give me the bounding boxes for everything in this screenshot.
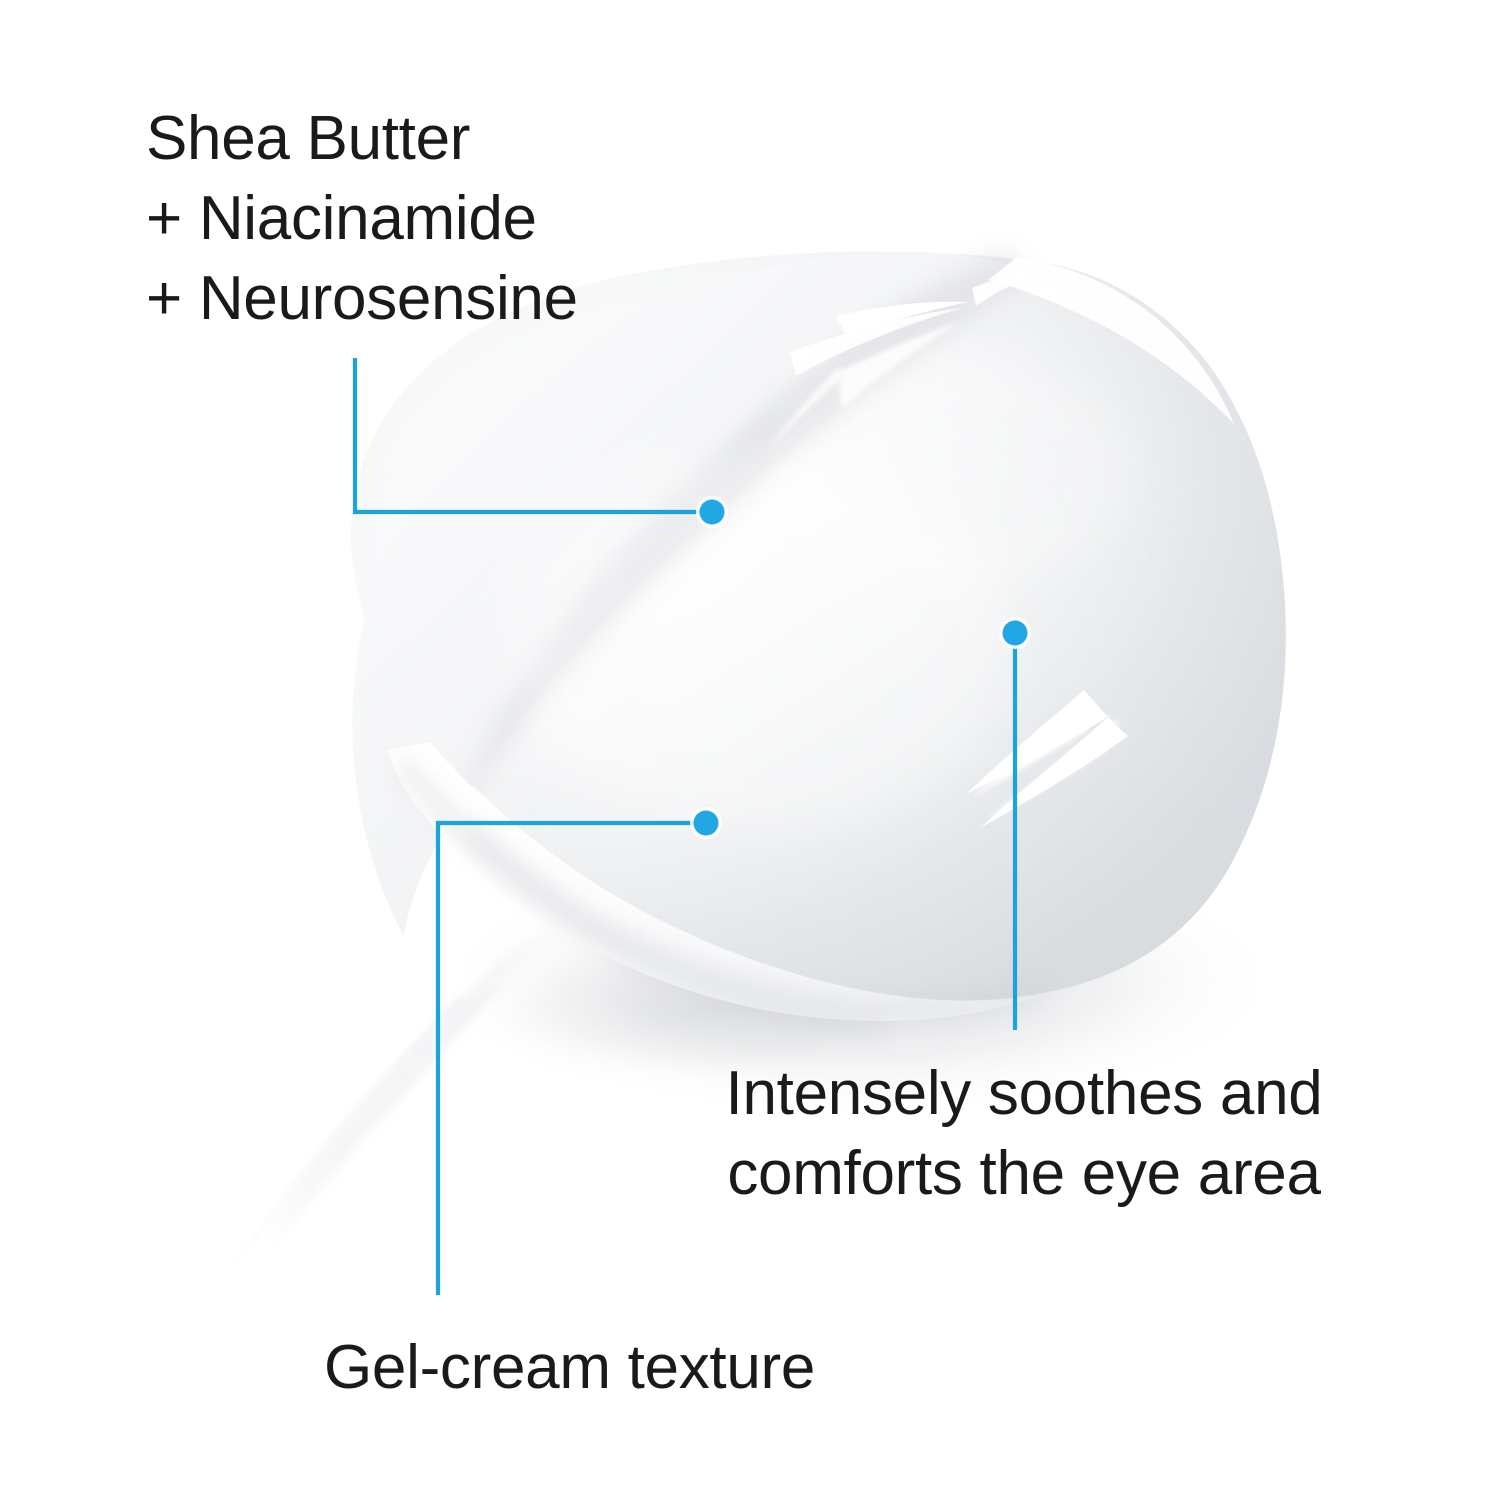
callout-label-texture: Gel-cream texture <box>324 1328 815 1408</box>
leader-texture <box>438 807 722 1295</box>
callout-dot-texture <box>694 811 719 836</box>
leader-soothes <box>999 617 1031 1030</box>
leader-ingredients <box>355 358 728 528</box>
callout-dot-ingredients <box>700 500 725 525</box>
callout-label-ingredients: Shea Butter + Niacinamide + Neurosensine <box>146 99 578 339</box>
callout-label-soothes: Intensely soothes and comforts the eye a… <box>688 1054 1360 1214</box>
infographic-canvas: Shea Butter + Niacinamide + Neurosensine… <box>0 0 1500 1500</box>
callout-dot-soothes <box>1003 621 1028 646</box>
